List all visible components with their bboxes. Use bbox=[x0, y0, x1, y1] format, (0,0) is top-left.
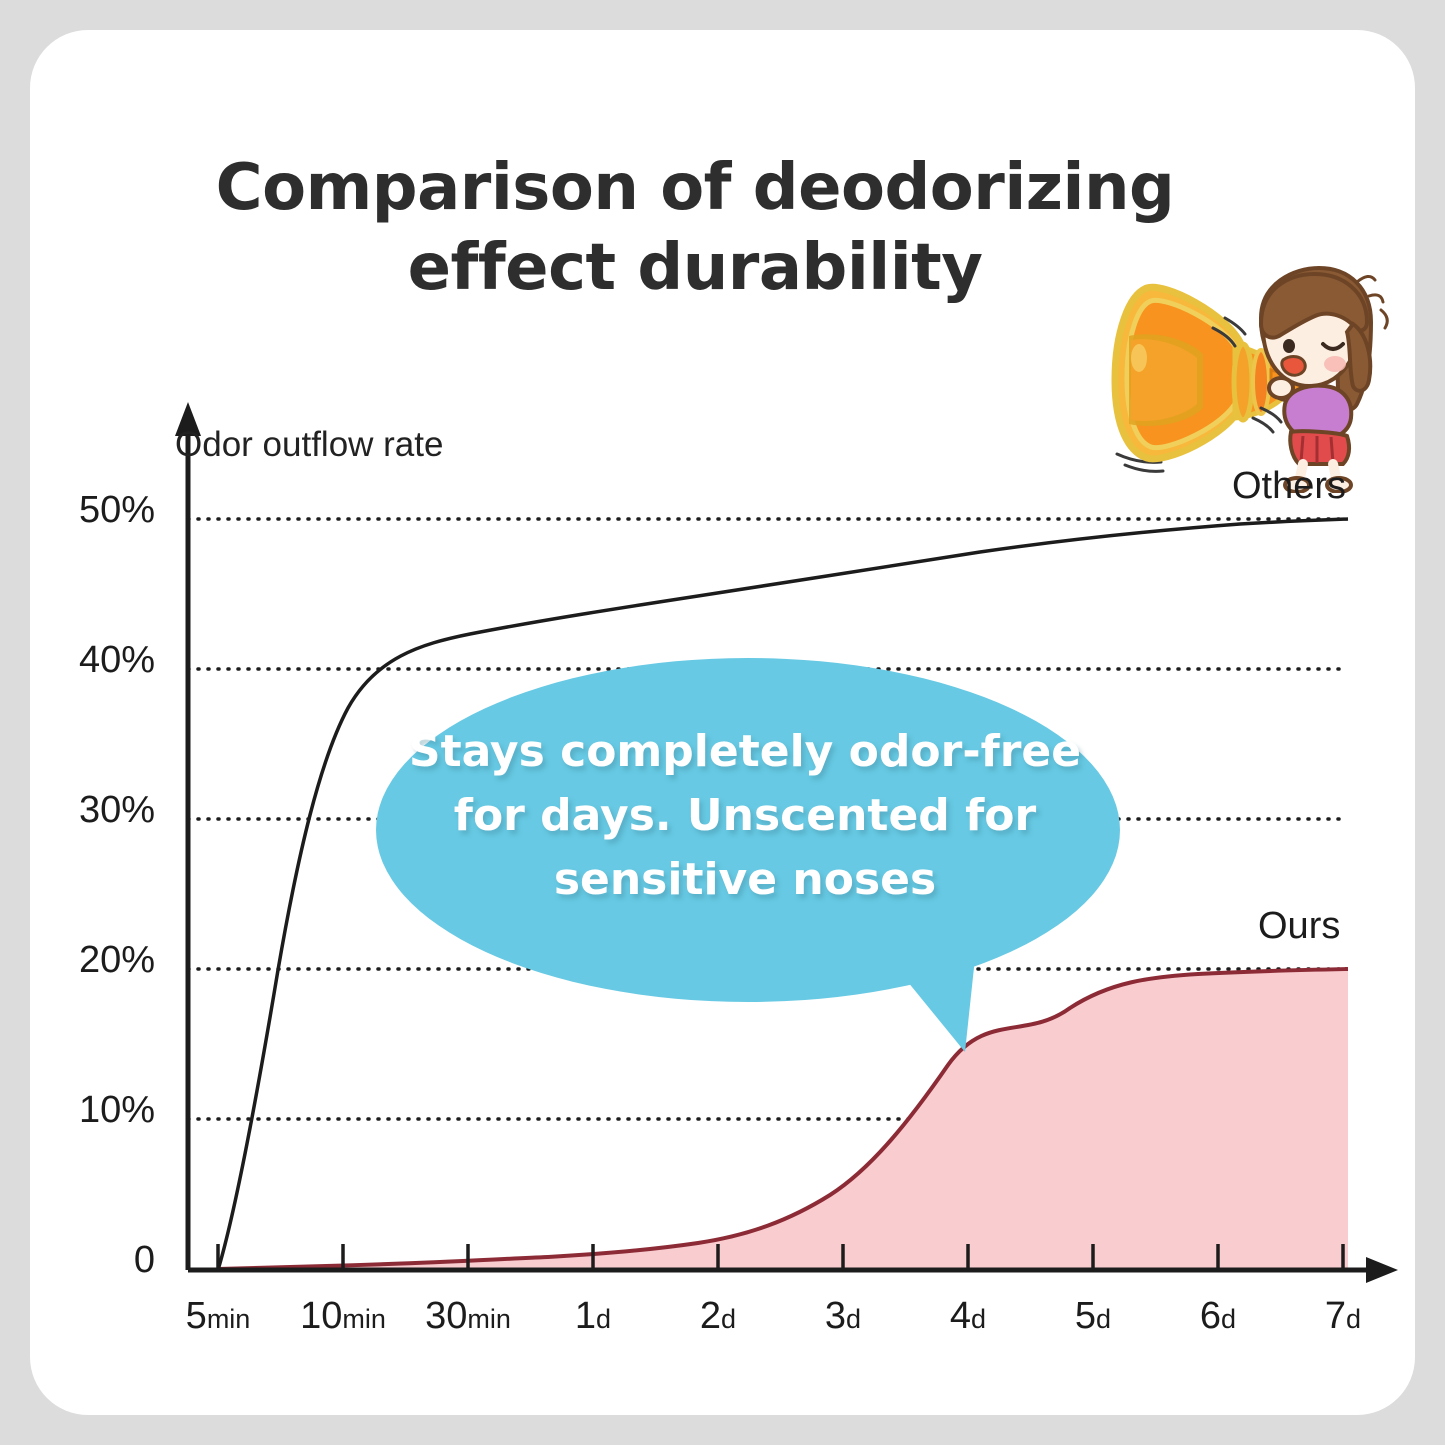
x-tick-number: 5 bbox=[1075, 1295, 1096, 1337]
series-label-others: Others bbox=[1232, 465, 1346, 508]
series-label-ours: Ours bbox=[1258, 905, 1340, 948]
y-axis-title: Odor outflow rate bbox=[175, 425, 443, 465]
x-tick-number: 3 bbox=[825, 1295, 846, 1337]
x-tick-number: 6 bbox=[1200, 1295, 1221, 1337]
x-tick-number: 2 bbox=[700, 1295, 721, 1337]
x-tick-number: 30 bbox=[425, 1295, 467, 1337]
x-tick-number: 5 bbox=[186, 1295, 207, 1337]
x-tick-unit: d bbox=[1346, 1304, 1361, 1334]
x-tick-number: 10 bbox=[300, 1295, 342, 1337]
y-tick-label-0: 0 bbox=[35, 1239, 155, 1282]
callout-bubble bbox=[376, 658, 1120, 1052]
y-tick-label-20: 20% bbox=[35, 939, 155, 982]
x-tick-unit: d bbox=[1221, 1304, 1236, 1334]
x-tick-unit: min bbox=[467, 1304, 511, 1334]
x-tick-unit: min bbox=[342, 1304, 386, 1334]
x-tick-number: 1 bbox=[575, 1295, 596, 1337]
y-tick-label-30: 30% bbox=[35, 789, 155, 832]
x-tick-number: 7 bbox=[1325, 1295, 1346, 1337]
x-tick-unit: d bbox=[971, 1304, 986, 1334]
x-tick-number: 4 bbox=[950, 1295, 971, 1337]
y-tick-label-50: 50% bbox=[35, 489, 155, 532]
x-tick-unit: d bbox=[1096, 1304, 1111, 1334]
x-tick-unit: d bbox=[846, 1304, 861, 1334]
chart-plot-area bbox=[30, 30, 1415, 1415]
x-tick-label-7d: 7d bbox=[1268, 1295, 1415, 1338]
y-tick-label-10: 10% bbox=[35, 1089, 155, 1132]
x-axis-arrow bbox=[1366, 1257, 1398, 1283]
page-root: Comparison of deodorizing effect durabil… bbox=[0, 0, 1445, 1445]
y-tick-label-40: 40% bbox=[35, 639, 155, 682]
x-tick-unit: min bbox=[207, 1304, 251, 1334]
x-tick-unit: d bbox=[596, 1304, 611, 1334]
chart-card: Comparison of deodorizing effect durabil… bbox=[30, 30, 1415, 1415]
x-tick-unit: d bbox=[721, 1304, 736, 1334]
